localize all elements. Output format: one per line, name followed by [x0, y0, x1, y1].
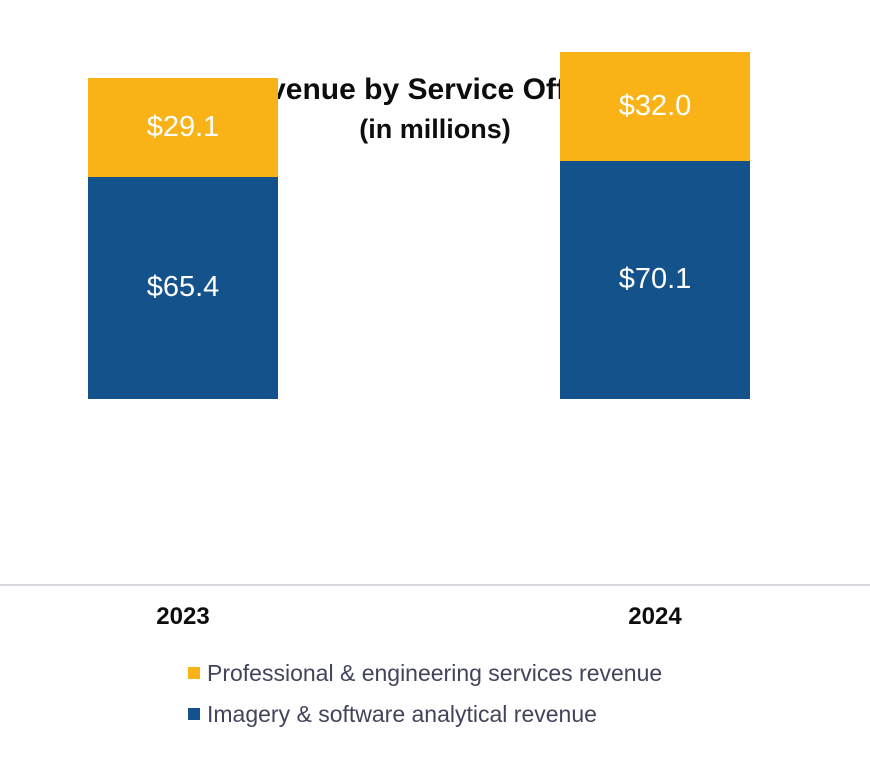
revenue-stacked-bar-chart: Revenue by Service Offering (in millions… — [0, 0, 870, 770]
axis-baseline — [0, 584, 870, 586]
legend-label-professional: Professional & engineering services reve… — [207, 660, 662, 686]
stacked-bar-2024: $32.0 $70.1 — [560, 52, 750, 399]
legend-label-imagery: Imagery & software analytical revenue — [207, 701, 597, 727]
data-label-imagery-2024: $70.1 — [619, 265, 692, 294]
bar-segment-professional-2024[interactable]: $32.0 — [560, 52, 750, 161]
chart-legend: Professional & engineering services reve… — [0, 652, 870, 734]
stacked-bar-2023: $29.1 $65.4 — [88, 78, 278, 399]
plot-area: $29.1 $65.4 $32.0 $70.1 — [0, 0, 870, 585]
bar-segment-imagery-2024[interactable]: $70.1 — [560, 161, 750, 399]
legend-item-professional[interactable]: Professional & engineering services reve… — [180, 652, 690, 693]
legend-item-imagery[interactable]: Imagery & software analytical revenue — [180, 693, 690, 734]
data-label-imagery-2023: $65.4 — [147, 273, 220, 302]
bar-segment-professional-2023[interactable]: $29.1 — [88, 78, 278, 177]
data-label-professional-2024: $32.0 — [619, 92, 692, 121]
data-label-professional-2023: $29.1 — [147, 113, 220, 142]
legend-swatch-professional-icon — [188, 667, 200, 679]
x-axis-label-2023: 2023 — [88, 602, 278, 632]
x-axis-label-2024: 2024 — [560, 602, 750, 632]
bar-segment-imagery-2023[interactable]: $65.4 — [88, 177, 278, 399]
legend-swatch-imagery-icon — [188, 708, 200, 720]
